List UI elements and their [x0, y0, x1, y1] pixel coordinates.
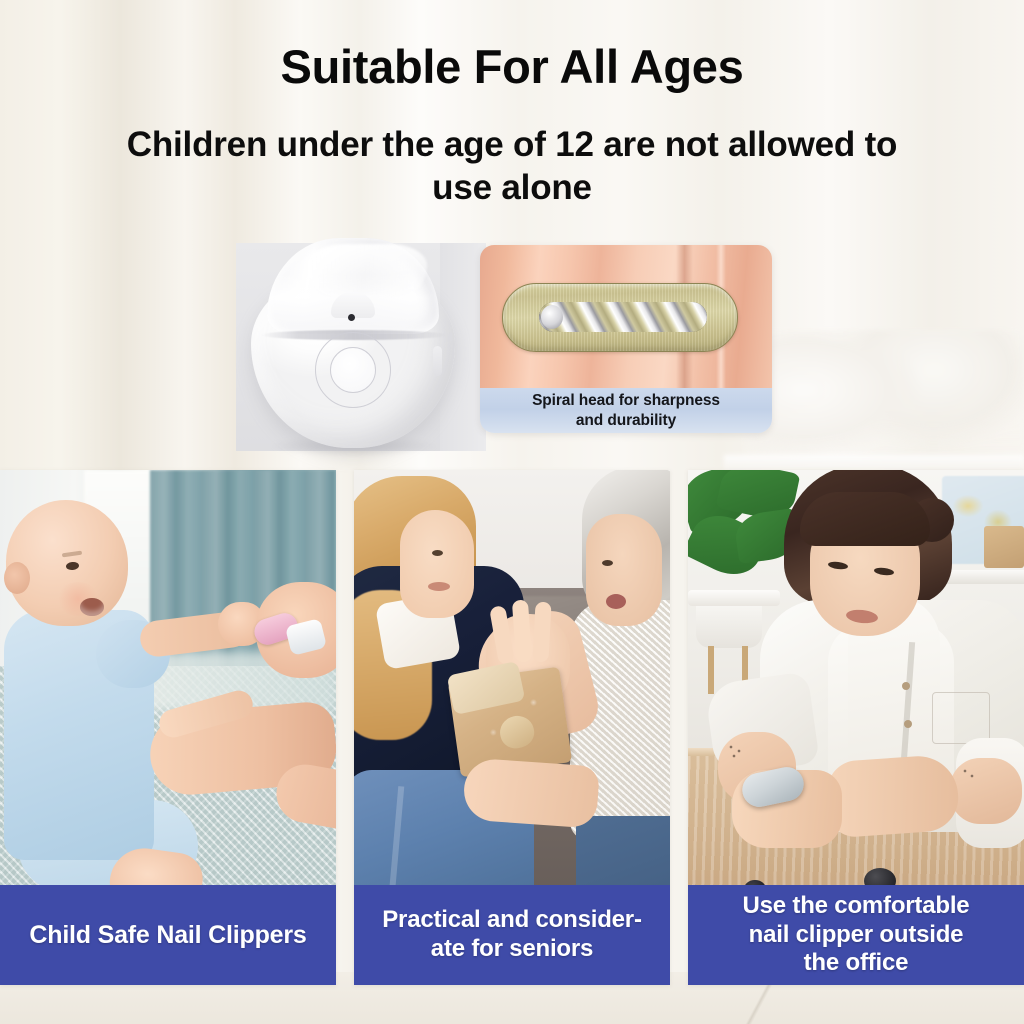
spiral-caption-line-2: and durability — [576, 412, 676, 429]
senior-woman-face — [586, 514, 662, 626]
side-table-top — [688, 590, 780, 606]
device-cap-highlight — [307, 244, 427, 298]
panel-seniors-caption-text: Practical and consider- ate for seniors — [382, 906, 642, 964]
forearm-tattoo-left — [726, 742, 748, 760]
spiral-head-caption-strip: Spiral head for sharpness and durability — [480, 388, 772, 433]
office-caption-line-3: the office — [804, 949, 909, 976]
page-subtitle: Children under the age of 12 are not all… — [112, 124, 912, 209]
panel-child: Child Safe Nail Clippers — [0, 470, 336, 985]
baby-ear — [4, 562, 30, 594]
gold-cutter-plate — [502, 283, 738, 352]
office-caption-line-1: Use the comfortable — [743, 892, 970, 919]
product-device-image — [245, 238, 461, 450]
product-infographic: Suitable For All Ages Children under the… — [0, 0, 1024, 1024]
blonde-woman-eye — [432, 550, 443, 556]
office-caption-line-2: nail clipper outside — [749, 921, 964, 948]
page-title: Suitable For All Ages — [0, 42, 1024, 92]
panel-seniors-caption: Practical and consider- ate for seniors — [354, 885, 670, 985]
panel-office: Use the comfortable nail clipper outside… — [688, 470, 1024, 985]
panel-office-caption: Use the comfortable nail clipper outside… — [688, 885, 1024, 985]
forearm-tattoo-right — [960, 766, 978, 782]
blonde-woman-hand — [462, 757, 600, 828]
senior-woman-eye — [602, 560, 613, 566]
seniors-caption-line-2: ate for seniors — [431, 935, 593, 962]
spiral-blade-tip — [541, 305, 563, 329]
spiral-caption-line-1: Spiral head for sharpness — [532, 392, 720, 409]
blonde-woman-lips — [428, 582, 450, 591]
cardboard-box — [984, 526, 1024, 568]
seniors-caption-line-1: Practical and consider- — [382, 906, 642, 933]
baby-mouth — [80, 598, 104, 616]
senior-woman-mouth — [606, 594, 626, 609]
cutter-slot — [539, 302, 707, 332]
office-woman-bangs — [800, 492, 930, 546]
device-power-button — [330, 347, 376, 393]
shirt-pocket — [932, 692, 990, 744]
spiral-head-inset: Spiral head for sharpness and durability — [480, 245, 772, 433]
panel-child-caption-text: Child Safe Nail Clippers — [29, 920, 306, 950]
shirt-button-2 — [904, 720, 912, 728]
panel-child-caption: Child Safe Nail Clippers — [0, 885, 336, 985]
spiral-blade-drum — [539, 302, 707, 332]
office-woman-hand-right — [826, 754, 961, 839]
spiral-head-caption-text: Spiral head for sharpness and durability — [532, 391, 720, 430]
power-led-icon — [348, 314, 355, 321]
device-side-button — [433, 346, 442, 376]
shirt-button-1 — [902, 682, 910, 690]
senior-woman-finger-3 — [532, 602, 551, 663]
spiral-head-photo — [480, 245, 772, 388]
panel-seniors: Practical and consider- ate for seniors — [354, 470, 670, 985]
blonde-woman-face — [400, 510, 474, 618]
panel-office-caption-text: Use the comfortable nail clipper outside… — [743, 892, 970, 978]
